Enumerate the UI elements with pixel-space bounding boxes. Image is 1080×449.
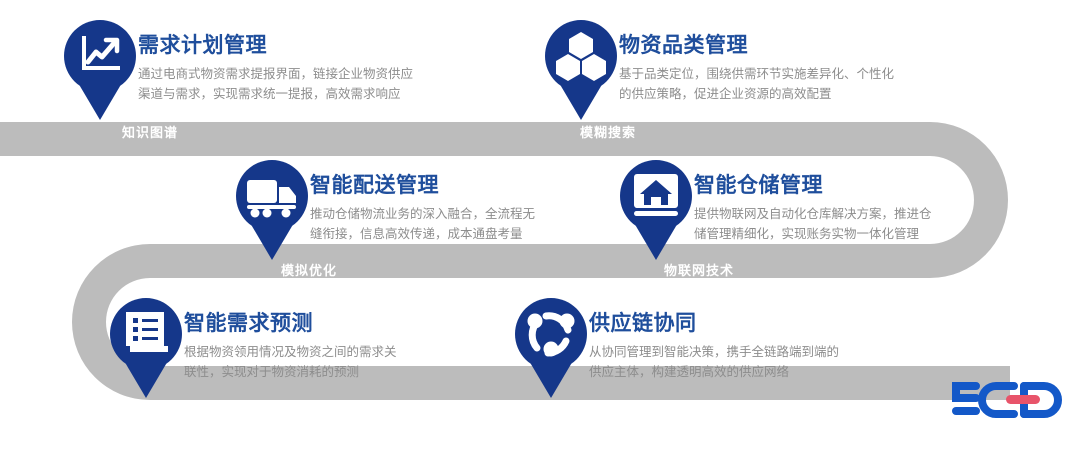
desc-line: 基于品类定位，围绕供需环节实施差异化、个性化 bbox=[619, 64, 894, 84]
card-text-block: 供应链协同 从协同管理到智能决策，携手全链路端到端的 供应主体，构建透明高效的供… bbox=[589, 296, 839, 383]
ribbon-label-artificial-intelligence: 人工智能 bbox=[172, 398, 228, 417]
desc-line: 根据物资领用情况及物资之间的需求关 bbox=[184, 342, 397, 362]
desc-line: 推动仓储物流业务的深入融合，全流程无 bbox=[310, 204, 535, 224]
card-demand-plan-management[interactable]: 需求计划管理 通过电商式物资需求提报界面，链接企业物资供应 渠道与需求，实现需求… bbox=[62, 18, 413, 118]
desc-line: 渠道与需求，实现需求统一提报，高效需求响应 bbox=[138, 84, 413, 104]
card-smart-delivery-management[interactable]: 智能配送管理 推动仓储物流业务的深入融合，全流程无 缝衔接，信息高效传递，成本通… bbox=[234, 158, 535, 258]
scroll-list-icon bbox=[126, 312, 168, 352]
card-title: 智能配送管理 bbox=[310, 174, 535, 197]
desc-line: 的供应策略，促进企业资源的高效配置 bbox=[619, 84, 894, 104]
logo-red-bar bbox=[1006, 395, 1040, 404]
card-text-block: 智能需求预测 根据物资领用情况及物资之间的需求关 联性，实现对于物资消耗的预测 bbox=[184, 296, 397, 383]
ribbon-label-fuzzy-search: 模糊搜索 bbox=[580, 122, 636, 141]
card-description: 从协同管理到智能决策，携手全链路端到端的 供应主体，构建透明高效的供应网络 bbox=[589, 342, 839, 383]
card-description: 通过电商式物资需求提报界面，链接企业物资供应 渠道与需求，实现需求统一提报，高效… bbox=[138, 64, 413, 105]
pin-marker bbox=[62, 18, 138, 118]
desc-line: 提供物联网及自动化仓库解决方案，推进仓 bbox=[694, 204, 932, 224]
card-title: 物资品类管理 bbox=[619, 34, 894, 57]
ribbon-label-deep-integration: 深度集成 bbox=[570, 398, 626, 417]
infographic-canvas: 需求计划管理 通过电商式物资需求提报界面，链接企业物资供应 渠道与需求，实现需求… bbox=[0, 0, 1080, 449]
card-text-block: 物资品类管理 基于品类定位，围绕供需环节实施差异化、个性化 的供应策略，促进企业… bbox=[619, 18, 894, 105]
card-text-block: 需求计划管理 通过电商式物资需求提报界面，链接企业物资供应 渠道与需求，实现需求… bbox=[138, 18, 413, 105]
ribbon-label-knowledge-graph: 知识图谱 bbox=[122, 122, 178, 141]
pin-marker bbox=[543, 18, 619, 118]
card-title: 智能需求预测 bbox=[184, 312, 397, 335]
card-description: 根据物资领用情况及物资之间的需求关 联性，实现对于物资消耗的预测 bbox=[184, 342, 397, 383]
desc-line: 供应主体，构建透明高效的供应网络 bbox=[589, 362, 839, 382]
ribbon-label-simulation-optimization: 模拟优化 bbox=[281, 260, 337, 279]
card-smart-warehouse-management[interactable]: 智能仓储管理 提供物联网及自动化仓库解决方案，推进仓 储管理精细化，实现账务实物… bbox=[618, 158, 932, 258]
card-title: 需求计划管理 bbox=[138, 34, 413, 57]
card-material-category-management[interactable]: 物资品类管理 基于品类定位，围绕供需环节实施差异化、个性化 的供应策略，促进企业… bbox=[543, 18, 894, 118]
desc-line: 通过电商式物资需求提报界面，链接企业物资供应 bbox=[138, 64, 413, 84]
card-title: 智能仓储管理 bbox=[694, 174, 932, 197]
card-supply-chain-collaboration[interactable]: 供应链协同 从协同管理到智能决策，携手全链路端到端的 供应主体，构建透明高效的供… bbox=[513, 296, 839, 396]
desc-line: 储管理精细化，实现账务实物一体化管理 bbox=[694, 224, 932, 244]
pin-marker bbox=[618, 158, 694, 258]
card-smart-demand-forecast[interactable]: 智能需求预测 根据物资领用情况及物资之间的需求关 联性，实现对于物资消耗的预测 bbox=[108, 296, 397, 396]
desc-line: 从协同管理到智能决策，携手全链路端到端的 bbox=[589, 342, 839, 362]
pin-marker bbox=[513, 296, 589, 396]
card-title: 供应链协同 bbox=[589, 312, 839, 335]
pin-marker bbox=[234, 158, 310, 258]
sco-logo bbox=[946, 377, 1062, 423]
ribbon-label-iot-technology: 物联网技术 bbox=[664, 260, 734, 279]
desc-line: 联性，实现对于物资消耗的预测 bbox=[184, 362, 397, 382]
card-description: 基于品类定位，围绕供需环节实施差异化、个性化 的供应策略，促进企业资源的高效配置 bbox=[619, 64, 894, 105]
card-description: 提供物联网及自动化仓库解决方案，推进仓 储管理精细化，实现账务实物一体化管理 bbox=[694, 204, 932, 245]
card-description: 推动仓储物流业务的深入融合，全流程无 缝衔接，信息高效传递，成本通盘考量 bbox=[310, 204, 535, 245]
card-text-block: 智能仓储管理 提供物联网及自动化仓库解决方案，推进仓 储管理精细化，实现账务实物… bbox=[694, 158, 932, 245]
desc-line: 缝衔接，信息高效传递，成本通盘考量 bbox=[310, 224, 535, 244]
pin-marker bbox=[108, 296, 184, 396]
card-text-block: 智能配送管理 推动仓储物流业务的深入融合，全流程无 缝衔接，信息高效传递，成本通… bbox=[310, 158, 535, 245]
